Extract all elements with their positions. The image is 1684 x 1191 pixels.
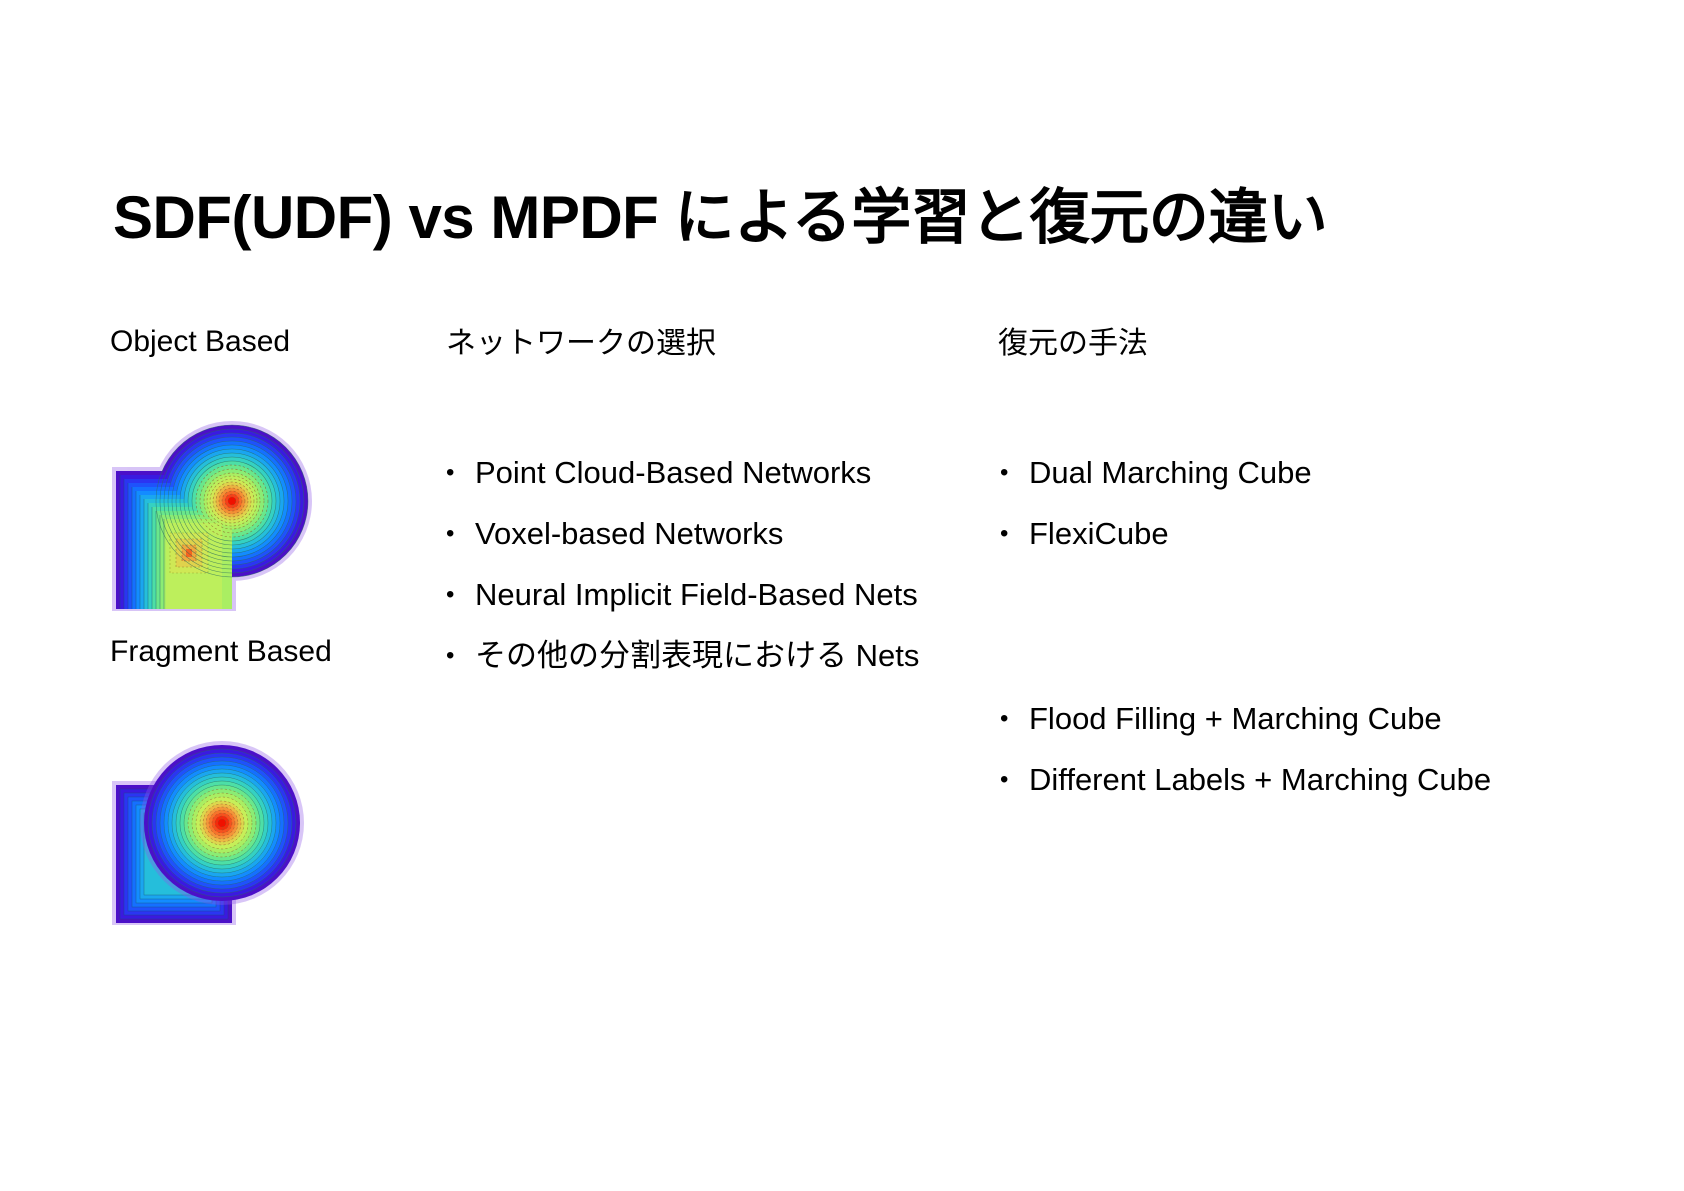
contour-bands [112,421,312,611]
presentation-slide: SDF(UDF) vs MPDF による学習と復元の違い Object Base… [0,0,1684,1191]
column-header-reconstruction-method: 復元の手法 [998,326,1148,362]
list-item: Neural Implicit Field-Based Nets [443,564,919,625]
list-item: FlexiCube [997,503,1312,564]
page-title: SDF(UDF) vs MPDF による学習と復元の違い [113,185,1327,251]
column-header-network-selection: ネットワークの選択 [446,326,716,362]
sdf-contour-svg [104,381,334,611]
list-item: Flood Filling + Marching Cube [997,688,1491,749]
sdf-contour-figure-object-based [104,381,334,611]
label-object-based: Object Based [110,324,290,360]
band-stack [116,425,308,609]
list-item: その他の分割表現における Nets [443,625,919,686]
label-fragment-based: Fragment Based [110,634,332,670]
list-item: Different Labels + Marching Cube [997,749,1491,810]
list-item: Point Cloud-Based Networks [443,442,919,503]
list-item: Voxel-based Networks [443,503,919,564]
mpdf-contour-svg [104,695,334,925]
bullet-list-reconstruction-group-b: Flood Filling + Marching Cube Different … [997,688,1491,810]
bullet-list-reconstruction-group-a: Dual Marching Cube FlexiCube [997,442,1312,564]
circle-field [140,741,304,905]
mpdf-contour-figure-fragment-based [104,695,334,925]
bullet-list-network-selection: Point Cloud-Based Networks Voxel-based N… [443,442,919,686]
list-item: Dual Marching Cube [997,442,1312,503]
